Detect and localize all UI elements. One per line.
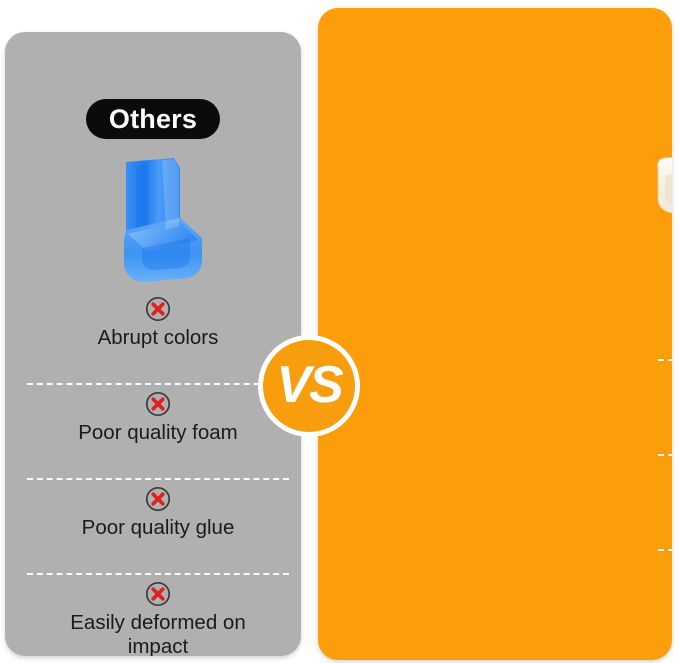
vs-label: VS <box>276 359 341 411</box>
list-item: Not easy to be d eformed by collision <box>648 551 672 660</box>
list-item-label: Poor quality foam <box>78 421 238 445</box>
blue-foam-corner-guard-icon <box>102 156 214 284</box>
list-item: Clear and transparent <box>648 266 672 361</box>
our-product-image <box>637 133 672 243</box>
cross-icon <box>145 296 171 322</box>
cross-icon <box>145 486 171 512</box>
cross-icon <box>145 391 171 417</box>
others-product-image <box>11 150 301 290</box>
list-item-label: Poor quality glue <box>82 516 235 540</box>
others-feature-list: Abrupt colors Poor quality foam Poor qua… <box>19 290 297 656</box>
list-item: Poor quality glue <box>19 480 297 575</box>
our-panel: Our <box>318 8 672 660</box>
our-feature-list: Clear and transparent High quality PVC A… <box>648 266 672 660</box>
others-badge: Others <box>86 99 220 139</box>
cross-icon <box>145 581 171 607</box>
list-item-label: Abrupt colors <box>98 326 219 350</box>
list-item: High quality PVC <box>648 361 672 456</box>
list-item-label: Easily deformed on impact <box>51 611 266 656</box>
others-panel: Others <box>5 32 301 656</box>
list-item: Easily deformed on impact <box>19 575 297 656</box>
vs-badge: VS <box>258 335 360 437</box>
comparison-infographic: Others <box>0 0 679 663</box>
clear-pvc-corner-guard-icon <box>652 142 672 234</box>
list-item: Poor quality foam <box>19 385 297 480</box>
list-item: Acrylic strong glue <box>648 456 672 551</box>
list-item: Abrupt colors <box>19 290 297 385</box>
